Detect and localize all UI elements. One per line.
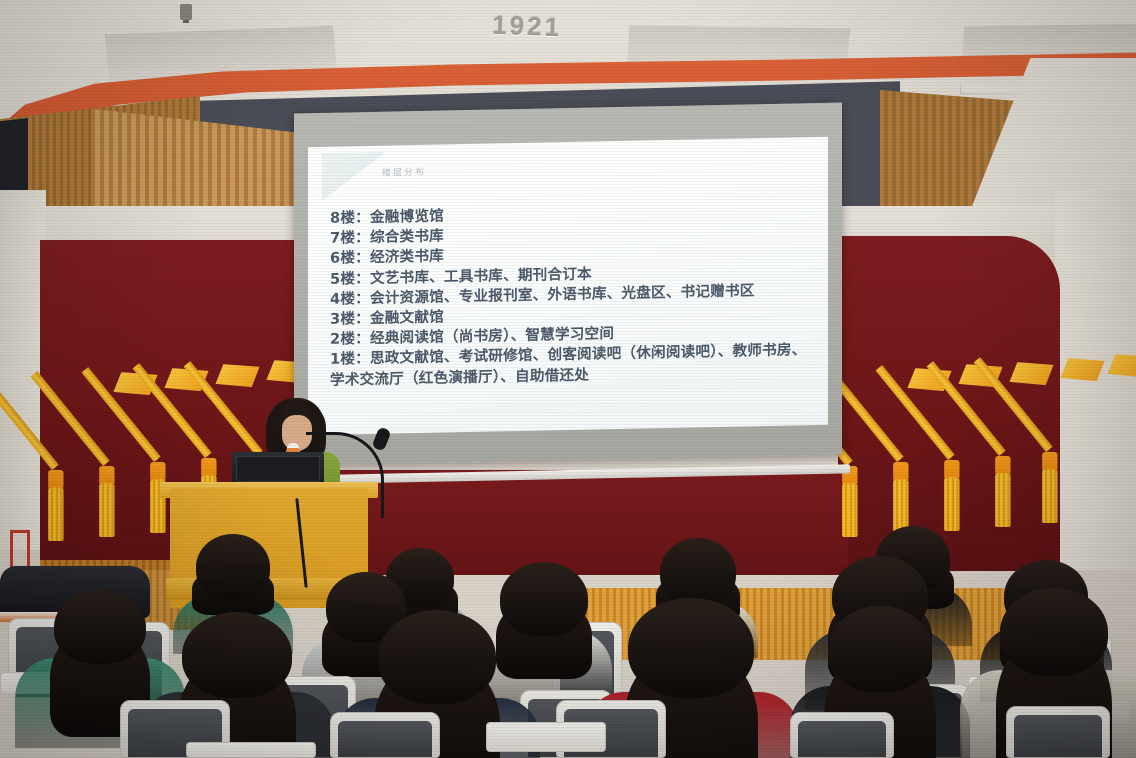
- presentation-slide: 楼层分布 8楼：金融博览馆7楼：综合类书库6楼：经济类书库5楼：文艺书库、工具书…: [308, 137, 828, 435]
- chair[interactable]: [1006, 706, 1110, 758]
- chair[interactable]: [790, 712, 894, 758]
- slide-body-text: 8楼：金融博览馆7楼：综合类书库6楼：经济类书库5楼：文艺书库、工具书库、期刊合…: [330, 199, 818, 391]
- slide-header: 楼层分布: [382, 165, 426, 179]
- projection-screen[interactable]: 楼层分布 8楼：金融博览馆7楼：综合类书库6楼：经济类书库5楼：文艺书库、工具书…: [294, 102, 842, 465]
- ceiling-year-sign: 1921: [491, 10, 612, 53]
- desk-tablet[interactable]: [186, 742, 316, 758]
- lecture-hall-photo: 1921 楼层分布 8楼：金融博览馆7楼：综合类书库6楼：经济类书库5楼：文艺书…: [0, 0, 1136, 758]
- gooseneck-microphone-stand: [300, 432, 384, 524]
- sprinkler-icon: [180, 4, 192, 20]
- desk-tablet[interactable]: [486, 722, 606, 752]
- chair-back: [1014, 715, 1102, 757]
- chair-back: [798, 721, 886, 757]
- chair[interactable]: [330, 712, 440, 758]
- slide-corner-triangle-icon: [322, 152, 386, 201]
- chair-back: [338, 721, 432, 757]
- slide-line: 1楼：思政文献馆、考试研修馆、创客阅读吧（休闲阅读吧）、教师书房、学术交流厅（红…: [330, 340, 818, 390]
